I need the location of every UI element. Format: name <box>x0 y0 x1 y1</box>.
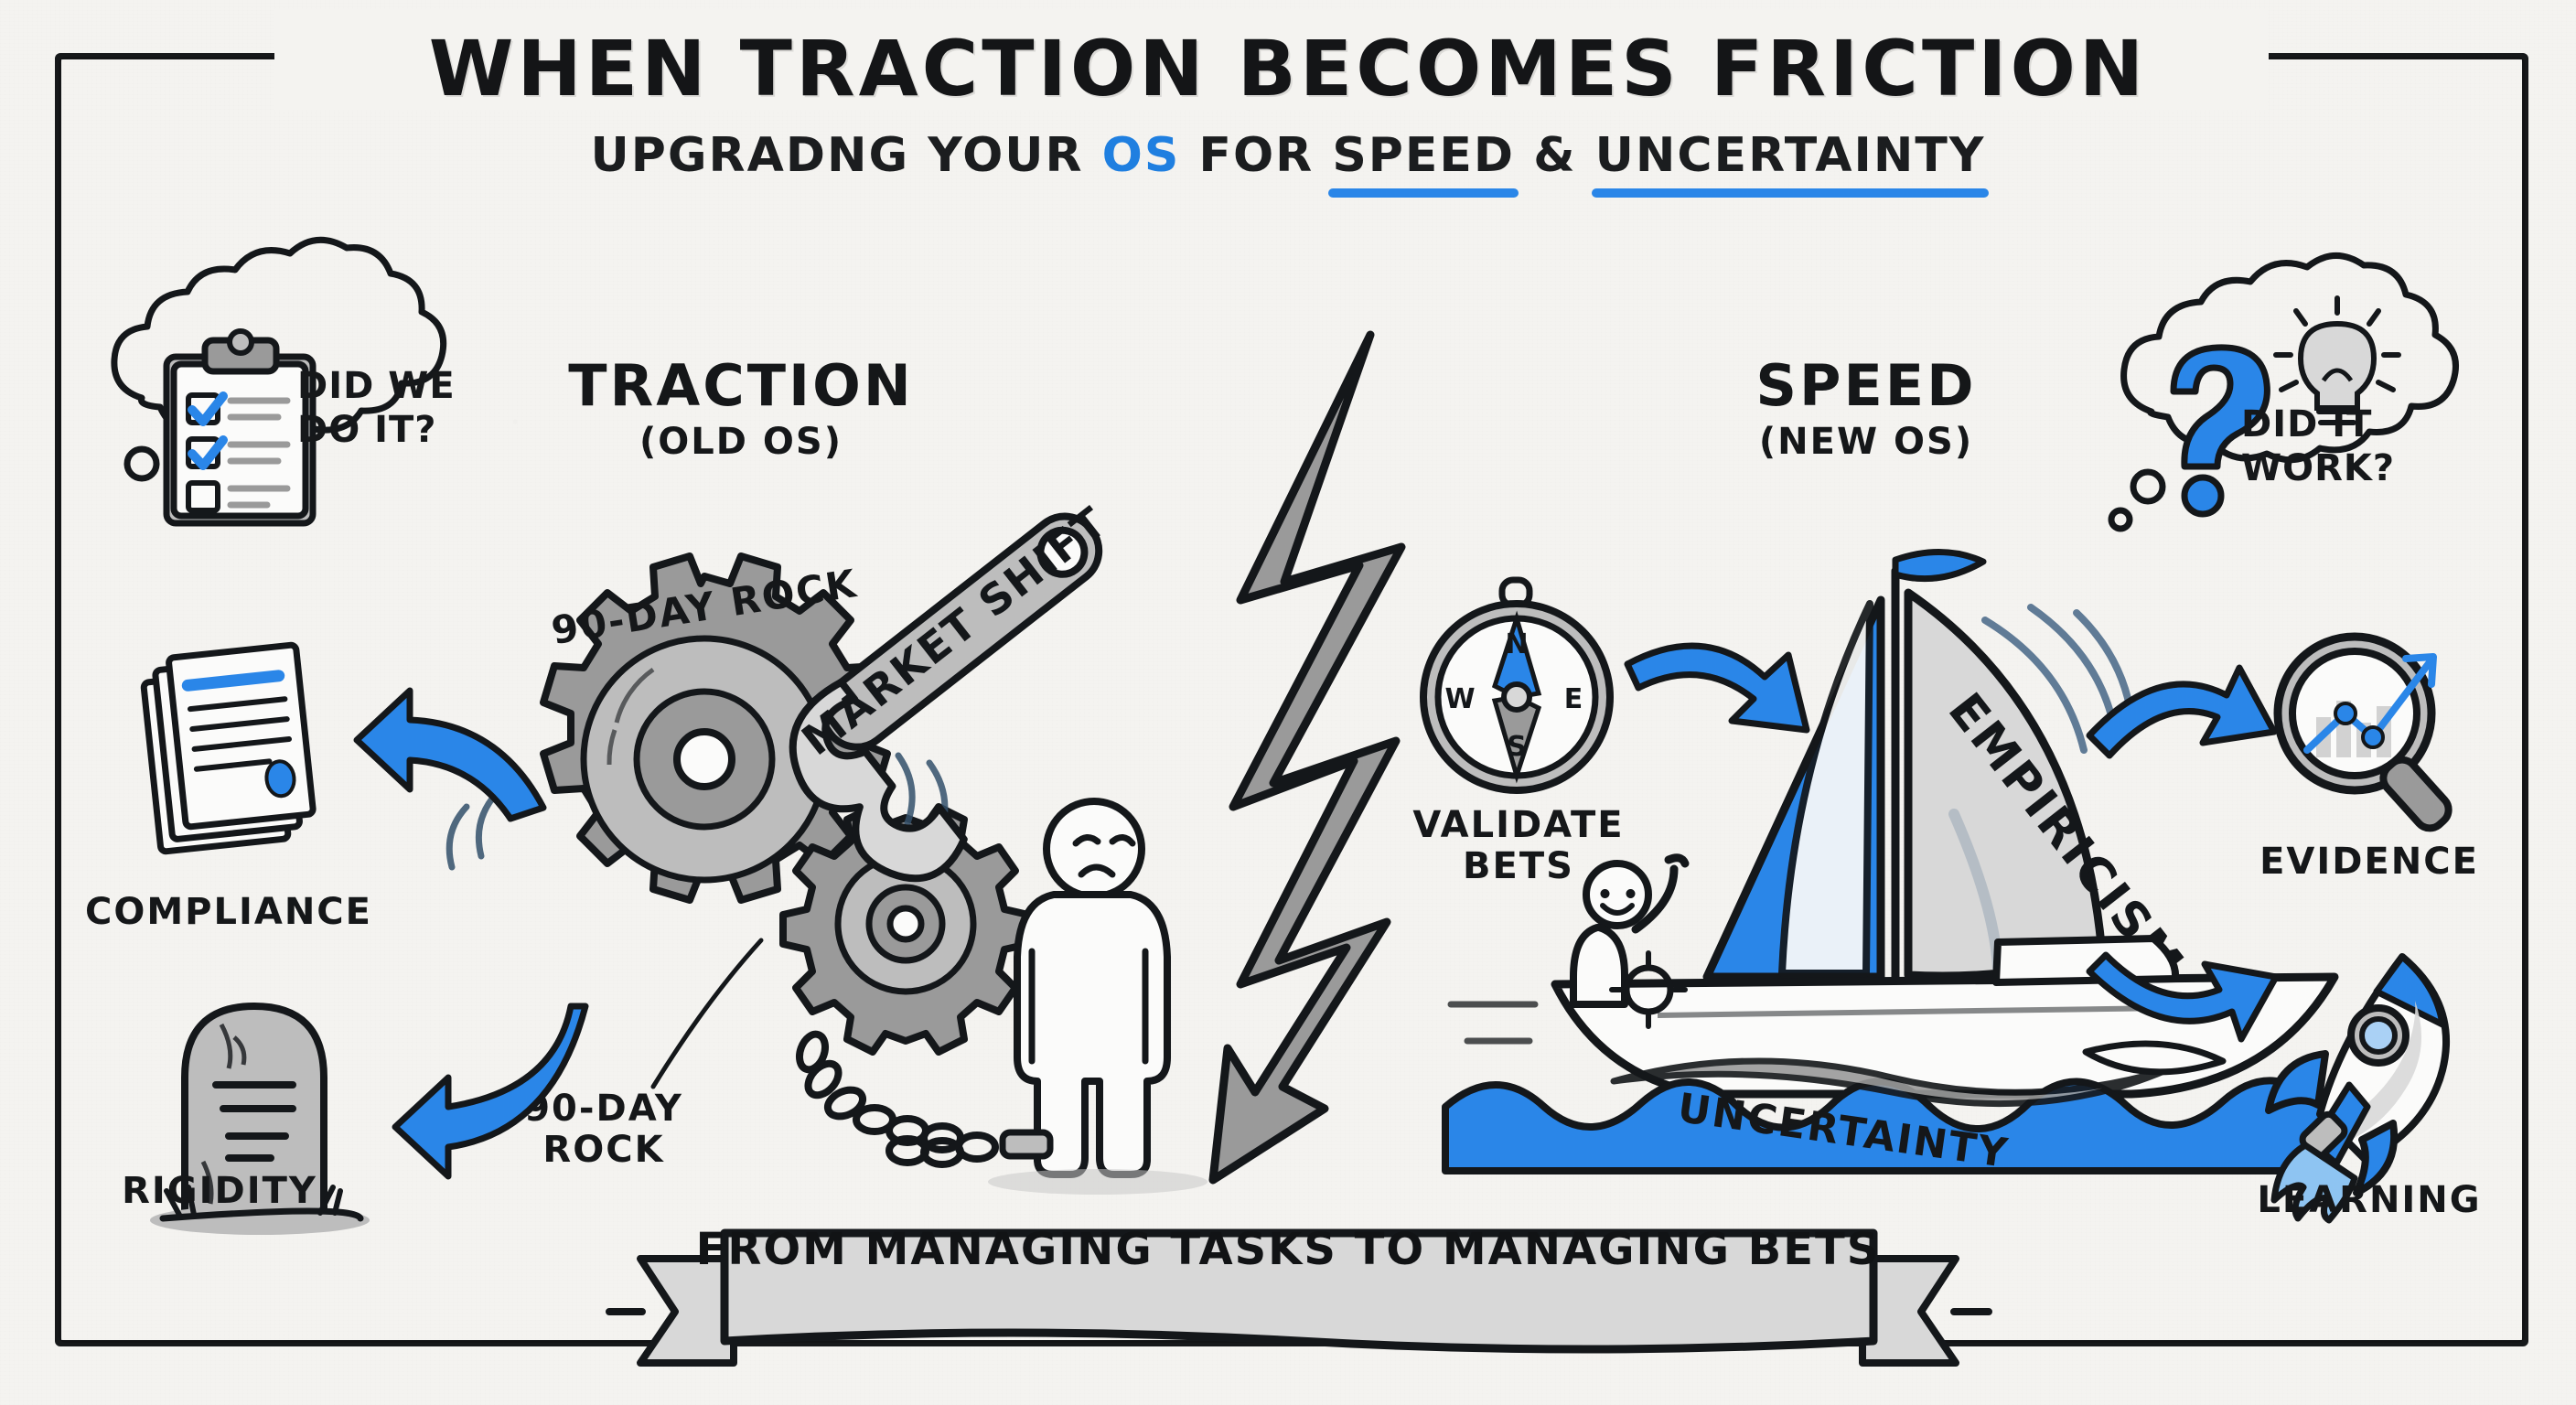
wrench-market-shift-icon: MARKET SHIFT <box>695 453 1207 837</box>
outcome-label-evidence: EVIDENCE <box>2195 842 2543 883</box>
subtitle-text-1: UPGRADNG YOUR <box>591 128 1102 183</box>
infographic-canvas: WHEN TRACTION BECOMES FRICTION UPGRADNG … <box>0 0 2576 1405</box>
subtitle-amp: & <box>1515 128 1595 183</box>
lightning-bolt-arrow-icon <box>1207 329 1409 1198</box>
right-heading-sub: (NEW OS) <box>1637 424 2095 461</box>
subtitle-os: OS <box>1102 128 1181 183</box>
chain-link-left <box>732 1043 970 1171</box>
subtitle-uncertainty: UNCERTAINTY <box>1595 128 1986 183</box>
outcome-label-learning: LEARNING <box>2195 1180 2543 1221</box>
subtitle-text-2: FOR <box>1180 128 1332 183</box>
arrow-to-evidence <box>2086 640 2278 768</box>
left-heading-main: TRACTION <box>568 352 913 419</box>
page-subtitle: UPGRADNG YOUR OS FOR SPEED & UNCERTAINTY <box>0 128 2576 183</box>
page-title: WHEN TRACTION BECOMES FRICTION <box>0 24 2576 113</box>
outcome-label-compliance: COMPLIANCE <box>55 892 402 933</box>
magnifier-chart-icon <box>2259 622 2488 842</box>
rocket-icon <box>2241 942 2479 1198</box>
left-column-heading: TRACTION (OLD OS) <box>512 357 970 461</box>
arrow-to-compliance <box>348 672 558 837</box>
outcome-label-rigidity: RIGIDITY <box>82 1171 357 1212</box>
thought-bubble-right-label: DID IT WORK? <box>2241 402 2395 490</box>
documents-icon <box>128 640 348 878</box>
banner-text: FROM MANAGING TASKS TO MANAGING BETS <box>0 1224 2576 1275</box>
right-column-heading: SPEED (NEW OS) <box>1637 357 2095 461</box>
arrow-to-rigidity <box>366 988 585 1153</box>
wrench-label: MARKET SHIFT <box>792 497 1116 765</box>
thought-bubble-left-label: DID WE DO IT? <box>297 364 456 452</box>
right-heading-main: SPEED <box>1755 352 1976 419</box>
subtitle-speed: SPEED <box>1332 128 1515 183</box>
